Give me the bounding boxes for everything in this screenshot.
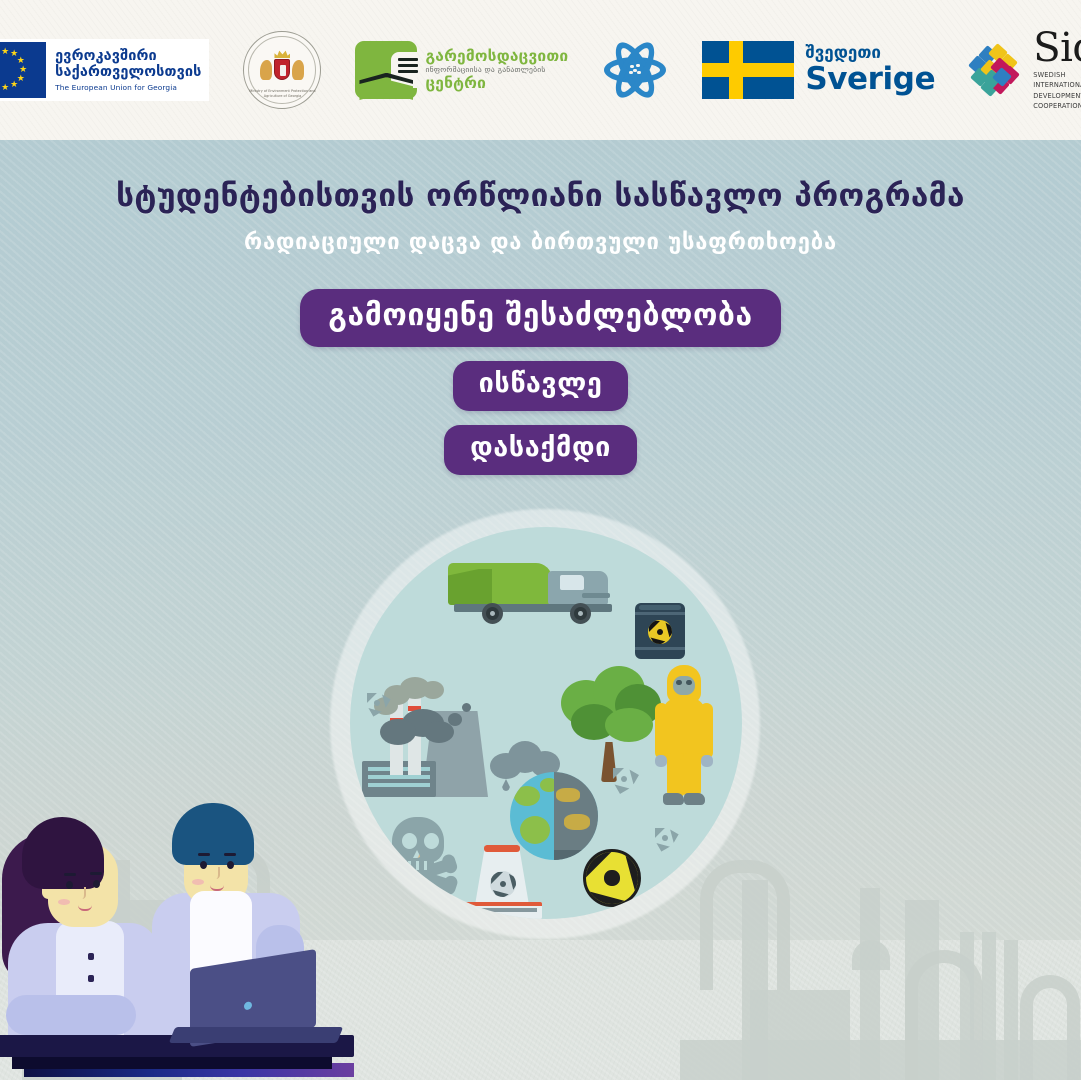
book-leaf-icon — [355, 41, 417, 99]
laptop-base — [169, 1027, 343, 1043]
coat-of-arms-icon — [259, 50, 305, 90]
badge-opportunity[interactable]: გამოიყენე შესაძლებლობა — [300, 289, 780, 347]
program-title: სტუდენტებისთვის ორწლიანი სასწავლო პროგრა… — [0, 178, 1081, 214]
radiation-symbol-icon — [583, 849, 641, 907]
sida-subline1: SWEDISH INTERNATIONAL DEVELOPMENT — [1033, 70, 1081, 101]
eu-logo-line3: The European Union for Georgia — [55, 84, 201, 92]
nuclear-cooling-tower-icon — [462, 845, 542, 919]
desk-shadow — [12, 1057, 332, 1069]
sida-wordmark: Sida — [1033, 29, 1081, 67]
sponsor-logo-bar: ★★★★★★★★★★★★ ევროკავშირი საქართველოსთვის… — [0, 0, 1081, 140]
radiation-symbol-icon — [366, 692, 388, 714]
radiation-symbol-icon — [612, 767, 636, 791]
sweden-logo: შვედეთი Sverige — [702, 41, 935, 99]
eu-logo: ★★★★★★★★★★★★ ევროკავშირი საქართველოსთვის… — [0, 39, 209, 101]
skull-and-crossbones-icon — [378, 817, 456, 895]
sweden-logo-line1: შვედეთი — [805, 45, 935, 62]
sweden-logo-line2: Sverige — [805, 64, 935, 95]
environmental-agency-logo: გარემოსდაცვითი ინფორმაციისა და განათლები… — [355, 41, 568, 99]
badge-study[interactable]: ისწავლე — [453, 361, 629, 411]
hazmat-worker-icon — [655, 665, 713, 805]
eu-flag-icon: ★★★★★★★★★★★★ — [0, 42, 46, 98]
program-subtitle: რადიაციული დაცვა და ბირთვული უსაფრთხოება — [0, 230, 1081, 255]
env-logo-line3: ცენტრი — [425, 75, 568, 92]
georgia-government-seal: Ministry of Environment Protection and A… — [243, 31, 321, 109]
sida-logo: Sida SWEDISH INTERNATIONAL DEVELOPMENT C… — [969, 29, 1081, 111]
sida-subline2: COOPERATION AGENCY — [1033, 101, 1081, 111]
title-block: სტუდენტებისთვის ორწლიანი სასწავლო პროგრა… — [0, 178, 1081, 255]
students-illustration — [0, 795, 364, 1080]
eu-logo-line2: საქართველოსთვის — [55, 64, 201, 80]
poster: ★★★★★★★★★★★★ ევროკავშირი საქართველოსთვის… — [0, 0, 1081, 1080]
eu-logo-line1: ევროკავშირი — [55, 48, 201, 64]
atom-logo — [602, 37, 668, 103]
sweden-flag-icon — [702, 41, 794, 99]
seal-caption: Ministry of Environment Protection and A… — [244, 89, 320, 99]
radiation-symbol-icon — [654, 827, 676, 849]
badge-list: გამოიყენე შესაძლებლობა ისწავლე დასაქმდი — [0, 289, 1081, 475]
radioactive-barrel-icon — [635, 603, 685, 659]
env-logo-line1: გარემოსდაცვითი — [425, 48, 568, 65]
garbage-truck-icon — [448, 559, 628, 623]
badge-employment[interactable]: დასაქმდი — [444, 425, 637, 475]
atom-icon — [602, 37, 668, 103]
environment-illustration — [350, 527, 742, 919]
sida-weave-icon — [969, 44, 1025, 96]
tree-icon — [553, 662, 669, 782]
